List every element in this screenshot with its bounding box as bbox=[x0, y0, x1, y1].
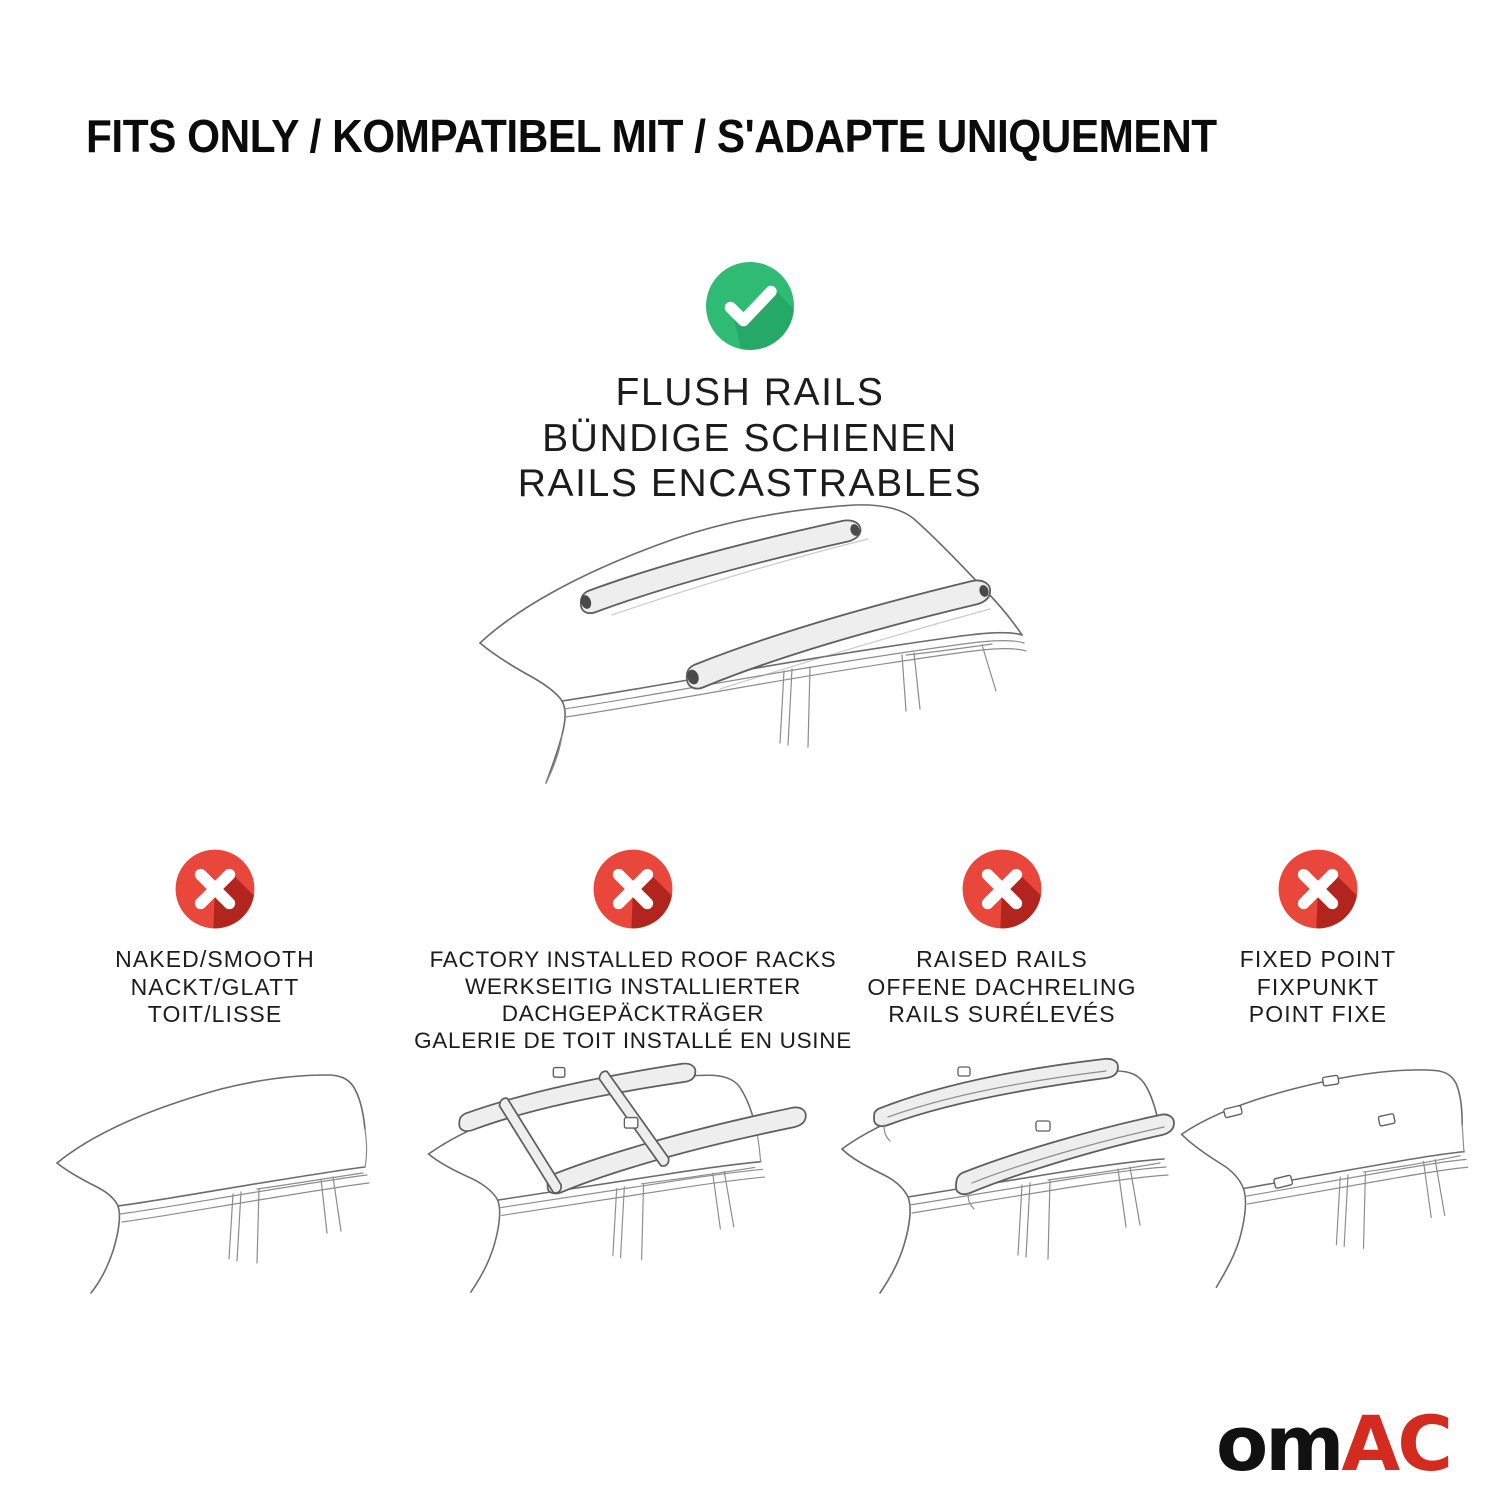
incompatible-column-raised-rails: RAISED RAILS OFFENE DACHRELING RAILS SUR… bbox=[822, 846, 1182, 1295]
brand-logo-red-part: AC bbox=[1341, 1406, 1450, 1482]
x-circle-icon bbox=[959, 846, 1045, 932]
compatible-labels: FLUSH RAILS BÜNDIGE SCHIENEN RAILS ENCAS… bbox=[0, 370, 1500, 507]
car-roof-fixed-point-illustration bbox=[1168, 1055, 1468, 1295]
incompatible-label-en: FIXED POINT bbox=[1168, 946, 1468, 974]
incompatible-label-en: FACTORY INSTALLED ROOF RACKS bbox=[398, 946, 868, 973]
x-circle-icon bbox=[1275, 846, 1361, 932]
incompatible-column-fixed-point: FIXED POINT FIXPUNKT POINT FIXE bbox=[1168, 846, 1468, 1295]
incompatible-labels: NAKED/SMOOTH NACKT/GLATT TOIT/LISSE bbox=[45, 946, 385, 1029]
incompatible-labels: FACTORY INSTALLED ROOF RACKS WERKSEITIG … bbox=[398, 946, 868, 1054]
incompatible-label-de: FIXPUNKT bbox=[1168, 974, 1468, 1002]
x-circle-icon bbox=[590, 846, 676, 932]
car-roof-factory-installed-roof-racks-illustration bbox=[398, 1058, 868, 1298]
car-roof-raised-rails-illustration bbox=[822, 1055, 1182, 1295]
incompatible-sections: NAKED/SMOOTH NACKT/GLATT TOIT/LISSE bbox=[0, 846, 1500, 1466]
incompatible-label-fr: TOIT/LISSE bbox=[45, 1001, 385, 1029]
car-roof-with-flush-rails-illustration bbox=[462, 495, 1042, 795]
compatible-section: FLUSH RAILS BÜNDIGE SCHIENEN RAILS ENCAS… bbox=[0, 258, 1500, 507]
incompatible-label-de-1: WERKSEITIG INSTALLIERTER bbox=[398, 973, 868, 1000]
brand-logo-dark-part: om bbox=[1216, 1406, 1341, 1482]
product-fitment-infographic: FITS ONLY / KOMPATIBEL MIT / S'ADAPTE UN… bbox=[0, 0, 1500, 1500]
incompatible-column-factory-roof-racks: FACTORY INSTALLED ROOF RACKS WERKSEITIG … bbox=[398, 846, 868, 1298]
page-title: FITS ONLY / KOMPATIBEL MIT / S'ADAPTE UN… bbox=[86, 104, 1426, 168]
incompatible-label-fr: RAILS SURÉLEVÉS bbox=[822, 1001, 1182, 1029]
page-title-text: FITS ONLY / KOMPATIBEL MIT / S'ADAPTE UN… bbox=[86, 113, 1217, 159]
incompatible-column-naked-smooth: NAKED/SMOOTH NACKT/GLATT TOIT/LISSE bbox=[45, 846, 385, 1295]
car-roof-naked-smooth-illustration bbox=[45, 1055, 385, 1295]
incompatible-label-de: NACKT/GLATT bbox=[45, 974, 385, 1002]
compatible-label-en: FLUSH RAILS bbox=[0, 370, 1500, 416]
incompatible-labels: FIXED POINT FIXPUNKT POINT FIXE bbox=[1168, 946, 1468, 1029]
compatible-label-de: BÜNDIGE SCHIENEN bbox=[0, 416, 1500, 462]
x-circle-icon bbox=[172, 846, 258, 932]
check-circle-icon bbox=[702, 258, 798, 354]
brand-logo: om AC bbox=[1216, 1406, 1450, 1480]
incompatible-label-en: NAKED/SMOOTH bbox=[45, 946, 385, 974]
incompatible-label-fr: GALERIE DE TOIT INSTALLÉ EN USINE bbox=[398, 1027, 868, 1054]
incompatible-label-en: RAISED RAILS bbox=[822, 946, 1182, 974]
incompatible-label-de-2: DACHGEPÄCKTRÄGER bbox=[398, 1000, 868, 1027]
incompatible-labels: RAISED RAILS OFFENE DACHRELING RAILS SUR… bbox=[822, 946, 1182, 1029]
incompatible-label-fr: POINT FIXE bbox=[1168, 1001, 1468, 1029]
incompatible-label-de: OFFENE DACHRELING bbox=[822, 974, 1182, 1002]
